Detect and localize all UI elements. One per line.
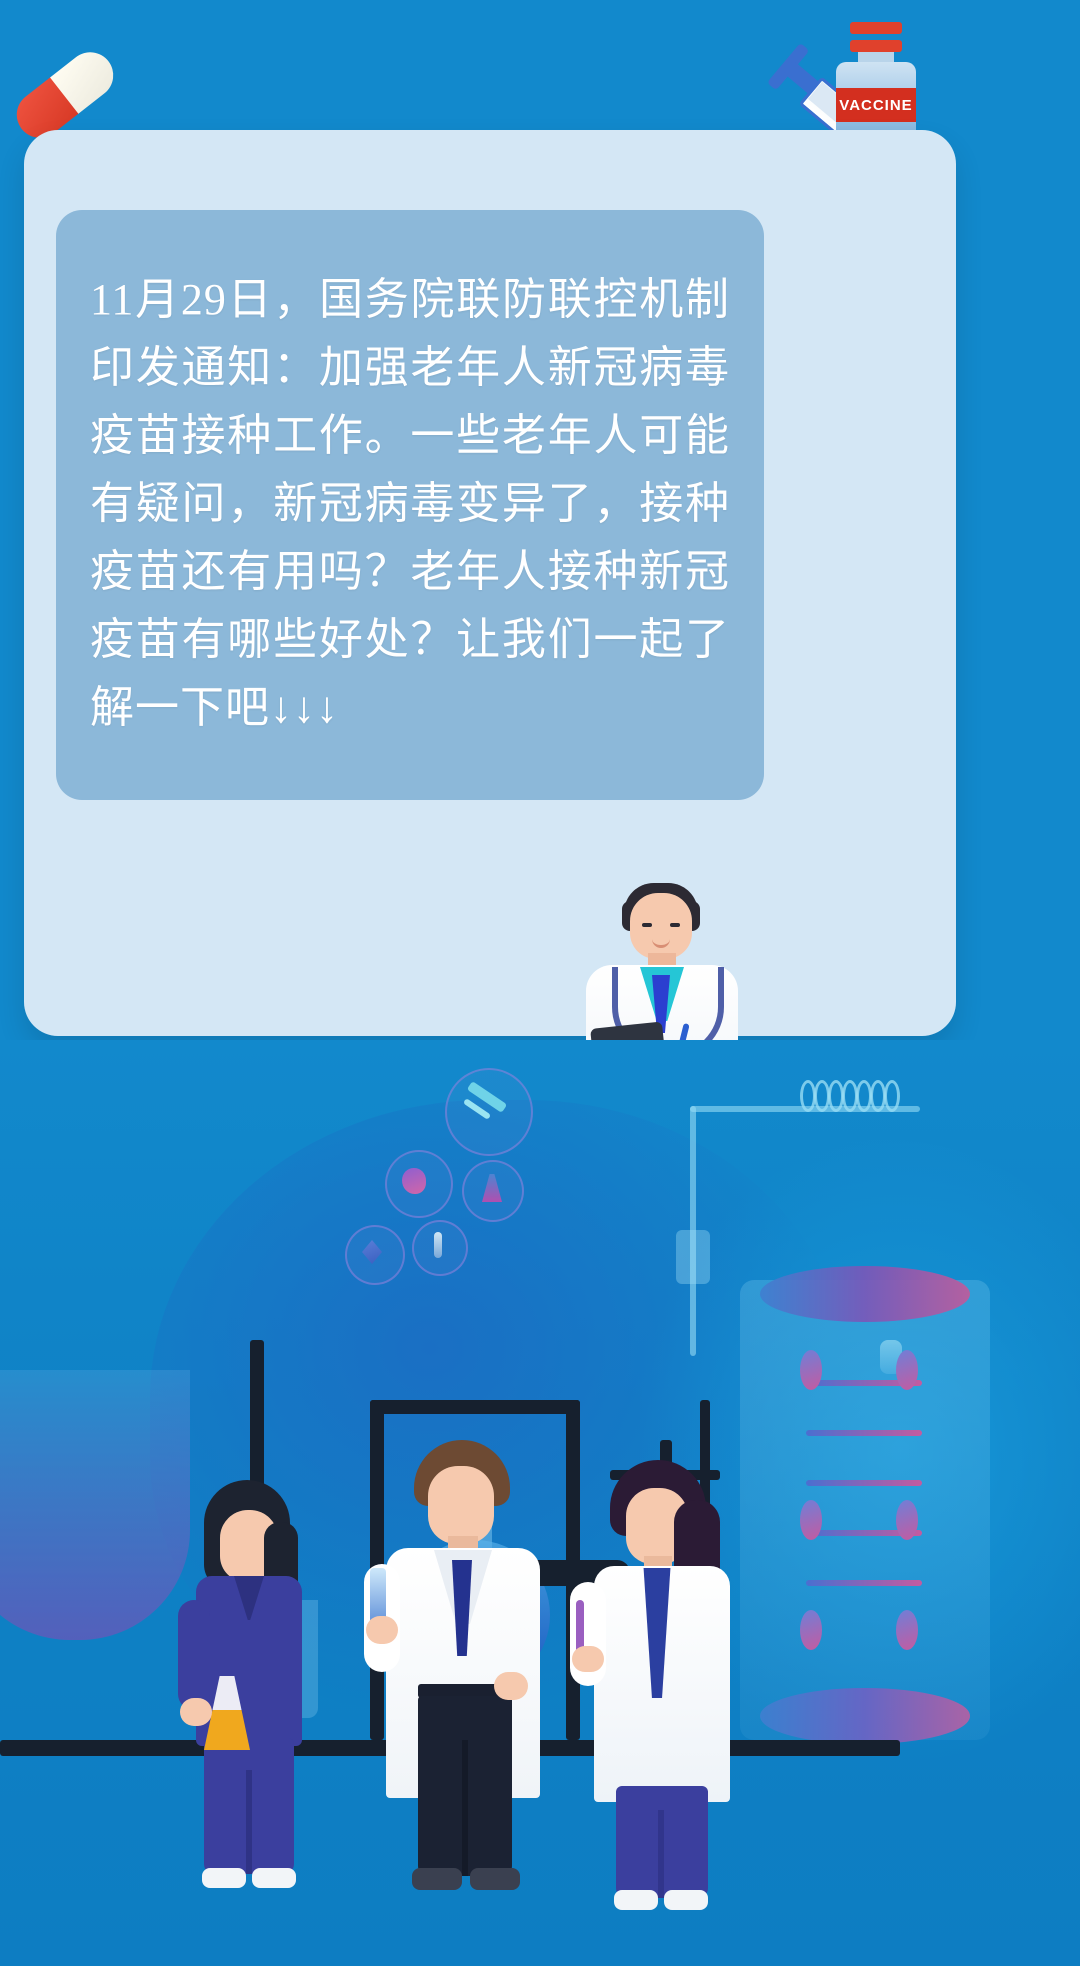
doctor-eye-right	[670, 923, 680, 927]
female-scientist-leg-split	[658, 1810, 664, 1898]
text-panel: 11月29日，国务院联防联控机制印发通知：加强老年人新冠病毒疫苗接种工作。一些老…	[56, 210, 764, 800]
body-text: 11月29日，国务院联防联控机制印发通知：加强老年人新冠病毒疫苗接种工作。一些老…	[90, 266, 730, 742]
vial-cap-bottom	[850, 40, 902, 52]
vial-cap-top	[850, 22, 902, 34]
male-scientist-shoe-right	[470, 1868, 520, 1890]
doctor-eye-left	[642, 923, 652, 927]
doctor-head	[630, 893, 692, 959]
main-card: 11月29日，国务院联防联控机制印发通知：加强老年人新冠病毒疫苗接种工作。一些老…	[24, 130, 956, 1036]
male-scientist-face	[428, 1466, 494, 1544]
lab-rig-top-bar	[370, 1400, 580, 1414]
laboratory-scene	[0, 1040, 1080, 1966]
lab-pipe-horizontal	[690, 1106, 920, 1112]
nurse-hand	[180, 1698, 212, 1726]
male-scientist-leg-split	[462, 1740, 468, 1876]
cylinder-tank-base	[760, 1688, 970, 1744]
cylinder-tank-top	[760, 1266, 970, 1322]
nurse-leg-split	[246, 1770, 252, 1874]
nurse-shoe-right	[252, 1868, 296, 1888]
lab-pipe-valve	[676, 1230, 710, 1284]
female-scientist-shoe-left	[614, 1890, 658, 1910]
female-scientist-hand	[572, 1646, 604, 1672]
male-scientist-hand-right	[366, 1616, 398, 1644]
bubble-syringe	[445, 1068, 533, 1156]
male-scientist-shoe-left	[412, 1868, 462, 1890]
poster-root: VACCINE 11月29日，国务院联防联控机制印发通知：加强老年人新冠病毒疫苗…	[0, 0, 1080, 1966]
dna-helix-icon	[800, 1340, 930, 1670]
female-scientist-shoe-right	[664, 1890, 708, 1910]
test-tube-icon	[434, 1232, 442, 1258]
nurse-shoe-left	[202, 1868, 246, 1888]
nurse-illustration	[160, 1480, 340, 1900]
female-scientist-illustration	[570, 1460, 780, 1910]
male-scientist-hand-left	[494, 1672, 528, 1700]
virus-cell-icon	[402, 1168, 426, 1194]
coil-condenser-icon	[800, 1080, 910, 1106]
nurse-arm	[178, 1600, 210, 1710]
vial-label: VACCINE	[836, 88, 916, 122]
male-scientist-illustration	[360, 1440, 590, 1910]
